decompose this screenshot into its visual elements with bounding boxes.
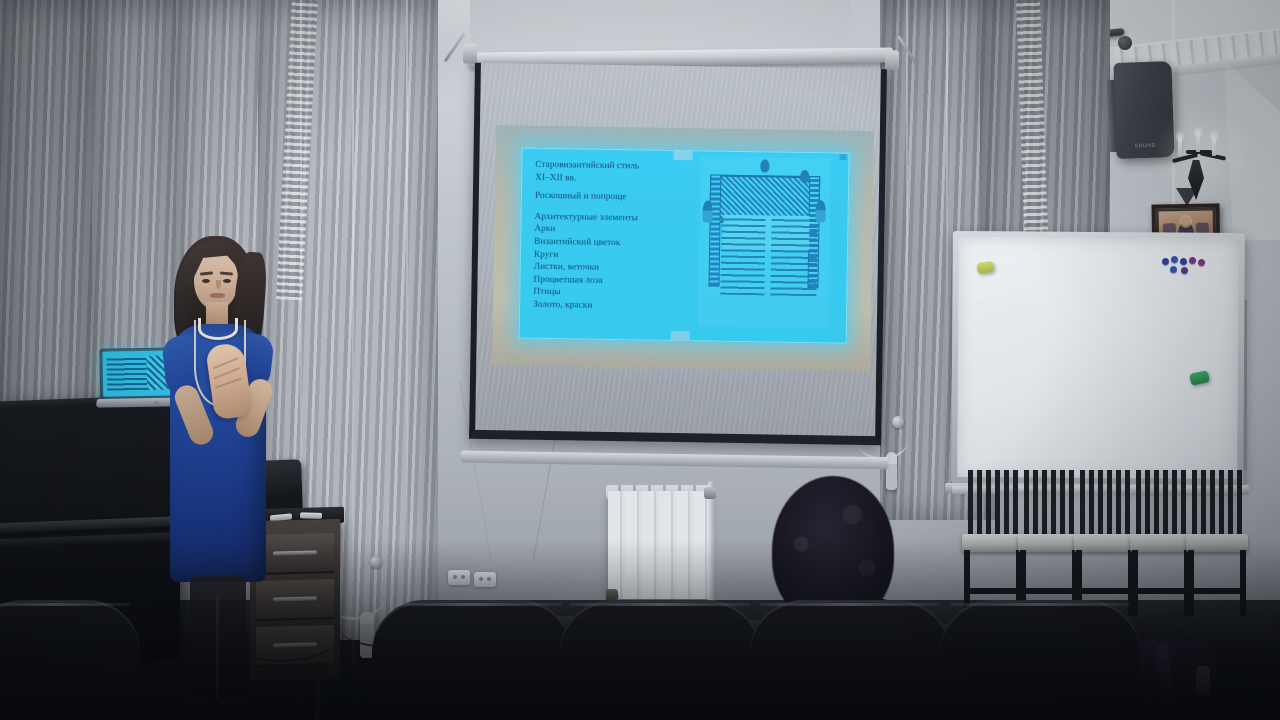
magnet[interactable] (1162, 258, 1169, 265)
stool-backrest (1192, 470, 1242, 536)
bar-stool[interactable] (1130, 498, 1192, 638)
wall-socket[interactable] (474, 572, 496, 587)
magnet[interactable] (1170, 266, 1177, 273)
manuscript-illustration (698, 156, 831, 328)
magnet[interactable] (1189, 257, 1196, 264)
foreground-chair[interactable] (750, 600, 950, 720)
stool-legs (1132, 550, 1190, 616)
stool-legs (1188, 550, 1246, 616)
whiteboard-surface[interactable] (957, 237, 1239, 479)
backpack-strap (1156, 644, 1172, 705)
slide-marker (673, 148, 692, 161)
chair-edge-highlight (570, 603, 750, 606)
slide-image-column (696, 150, 850, 343)
manuscript-text-lines (770, 217, 817, 296)
presenter-eye (223, 279, 231, 283)
finger-line (214, 367, 241, 379)
foreground-chair[interactable] (0, 600, 140, 720)
finger-line (215, 377, 242, 388)
slide-bullet: Золото, краски (533, 298, 692, 313)
manuscript-bird (800, 170, 809, 183)
presenter-eye (202, 279, 210, 283)
stool-backrest (1080, 470, 1130, 536)
radiator (608, 481, 720, 607)
foreground-chair[interactable] (560, 600, 760, 720)
stool-backrest (1136, 470, 1186, 536)
curtain-fold (946, 0, 948, 510)
stool-backrest (968, 470, 1018, 536)
foreground-chair[interactable] (372, 600, 572, 720)
slide-subtitle: Роскошный и попроще (535, 189, 694, 204)
magnet[interactable] (1180, 258, 1187, 265)
whiteboard[interactable] (951, 231, 1245, 485)
laptop-slide-text (107, 356, 148, 391)
candle-flame-icon (1210, 130, 1218, 141)
manuscript-text-lines (720, 217, 765, 296)
chair-edge-highlight (0, 603, 130, 606)
presenter-eyebrow (200, 271, 213, 275)
foreground-chair[interactable] (940, 600, 1140, 720)
manuscript-tree (816, 200, 826, 222)
slide-corner-mark (839, 155, 846, 160)
screen-roller-cap (463, 44, 477, 64)
radiator-valve[interactable] (704, 487, 716, 499)
backpack-side-pocket (1196, 666, 1210, 696)
magnet[interactable] (1181, 267, 1188, 274)
slide-text-column: Старовизантийский стиль XI–XII вв. Роско… (519, 148, 699, 342)
presenter-mouth (210, 293, 225, 298)
room-scene: Старовизантийский стиль XI–XII вв. Роско… (0, 0, 1280, 720)
radiator-fins (608, 491, 710, 599)
chair-edge-highlight (950, 603, 1130, 606)
stool-backrest (1024, 470, 1074, 536)
presenter-shoe (182, 698, 214, 718)
bar-stool[interactable] (1186, 498, 1248, 638)
manuscript-tree (703, 200, 713, 222)
magnet[interactable] (1171, 256, 1178, 263)
presenter-leg-gap (216, 596, 219, 700)
presenter-eyebrow (220, 271, 233, 275)
icon-halo (1181, 217, 1190, 226)
presenter-nose (216, 280, 221, 289)
wall-socket[interactable] (448, 570, 470, 585)
presentation-slide: Старовизантийский стиль XI–XII вв. Роско… (519, 148, 850, 344)
candle-flame-icon (1194, 126, 1202, 137)
curtain-panel (0, 0, 100, 430)
manuscript-bird (760, 159, 769, 172)
projector-screen: Старовизантийский стиль XI–XII вв. Роско… (469, 53, 887, 453)
candle-flame-icon (1176, 130, 1184, 141)
laptop-brand-label: hp (154, 400, 159, 405)
presenter-shoe (216, 698, 248, 718)
screen-surface: Старовизантийский стиль XI–XII вв. Роско… (469, 63, 887, 445)
magnet[interactable] (1198, 259, 1205, 266)
radiator-pipe (708, 481, 715, 607)
curtain-tieback (370, 556, 382, 568)
manuscript-column (709, 174, 722, 286)
rod-finial (1118, 36, 1132, 50)
chair-edge-highlight (760, 603, 940, 606)
curtain-tieback (892, 416, 904, 428)
whiteboard-frame (951, 231, 1245, 485)
chair-edge-highlight (382, 603, 562, 606)
screen-roller-cap (885, 50, 899, 70)
